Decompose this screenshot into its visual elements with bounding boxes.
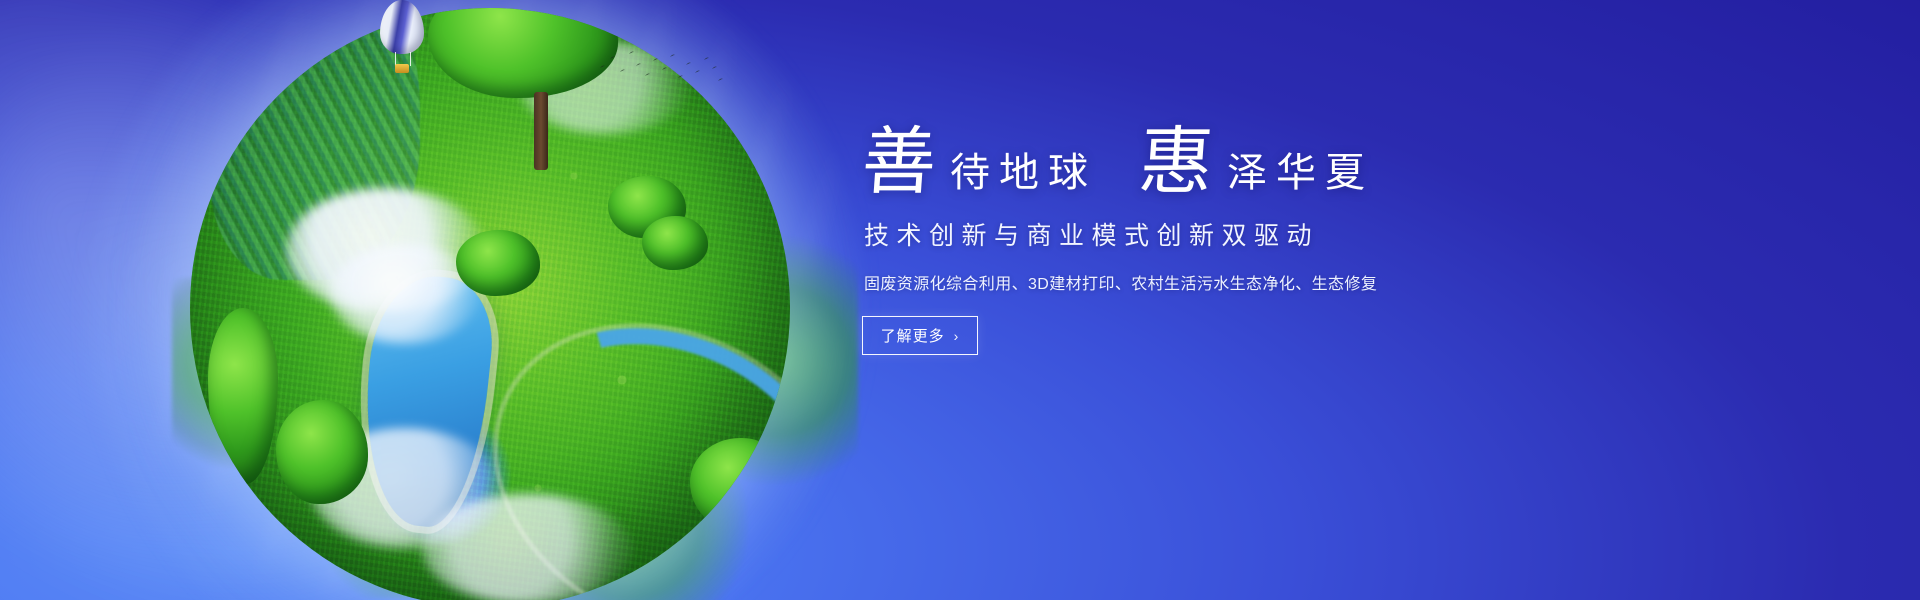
cloud-icon (422, 494, 632, 600)
hero-subtitle: 技术创新与商业模式创新双驱动 (864, 216, 1422, 252)
balloon-envelope (380, 0, 424, 54)
headline-segment1-large: 善 (859, 126, 940, 200)
tree-crown (208, 308, 278, 484)
tree-crown (428, 8, 618, 98)
tree-icon (428, 8, 618, 148)
chevron-right-icon: › (954, 329, 960, 343)
page-title: 善 待地球 惠 泽华夏 (862, 126, 1422, 200)
headline-segment2-large: 惠 (1136, 126, 1217, 200)
hero-description: 固废资源化综合利用、3D建材打印、农村生活污水生态净化、生态修复 (864, 270, 1422, 294)
tree-icon (208, 308, 278, 488)
balloon-basket (395, 64, 409, 73)
tree-trunk (534, 92, 548, 170)
tree-crown (690, 438, 790, 530)
tree-icon (642, 216, 708, 272)
tree-crown (456, 230, 540, 296)
hero-banner: 善 待地球 惠 泽华夏 技术创新与商业模式创新双驱动 固废资源化综合利用、3D建… (0, 0, 1920, 600)
headline-segment2-small: 泽华夏 (1215, 153, 1374, 200)
tree-crown (642, 216, 708, 270)
learn-more-label: 了解更多 (881, 325, 945, 346)
tree-icon (690, 438, 790, 534)
hero-text-block: 善 待地球 惠 泽华夏 技术创新与商业模式创新双驱动 固废资源化综合利用、3D建… (862, 126, 1422, 355)
hot-air-balloon-icon (380, 0, 428, 84)
birds-icon (596, 48, 726, 96)
headline-segment1-small: 待地球 (938, 153, 1097, 200)
tree-crown (276, 400, 368, 504)
learn-more-button[interactable]: 了解更多 › (862, 316, 978, 355)
tree-icon (456, 230, 540, 300)
tree-icon (276, 400, 368, 510)
green-planet (190, 8, 790, 600)
